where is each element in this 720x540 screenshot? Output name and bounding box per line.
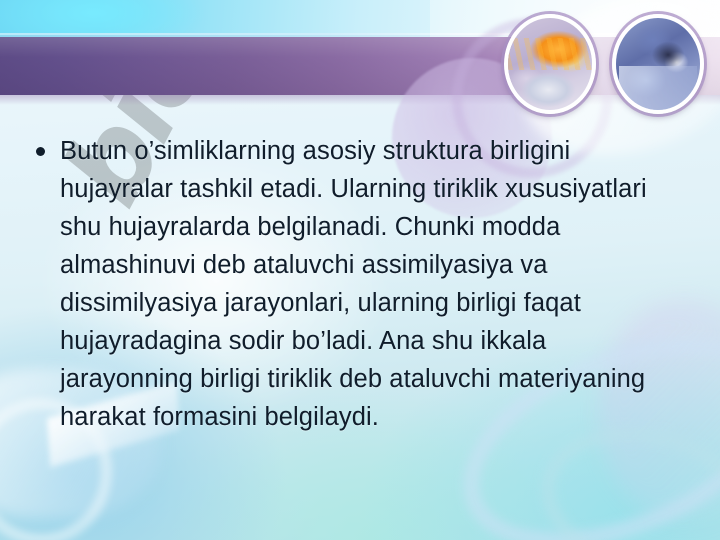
gloves-photo: [504, 14, 596, 114]
bullet-text: Butun o’simliklarning asosiy struktura b…: [60, 132, 670, 436]
bullet-dot-icon: [36, 147, 45, 156]
bullet-list-item: Butun o’simliklarning asosiy struktura b…: [36, 132, 696, 436]
presentation-slide: biologiya Butun o’simliklarning asosiy s…: [0, 0, 720, 540]
gloves-photo-art: [508, 18, 592, 110]
surgeon-photo-art: [616, 18, 700, 110]
surgeon-photo: [612, 14, 704, 114]
